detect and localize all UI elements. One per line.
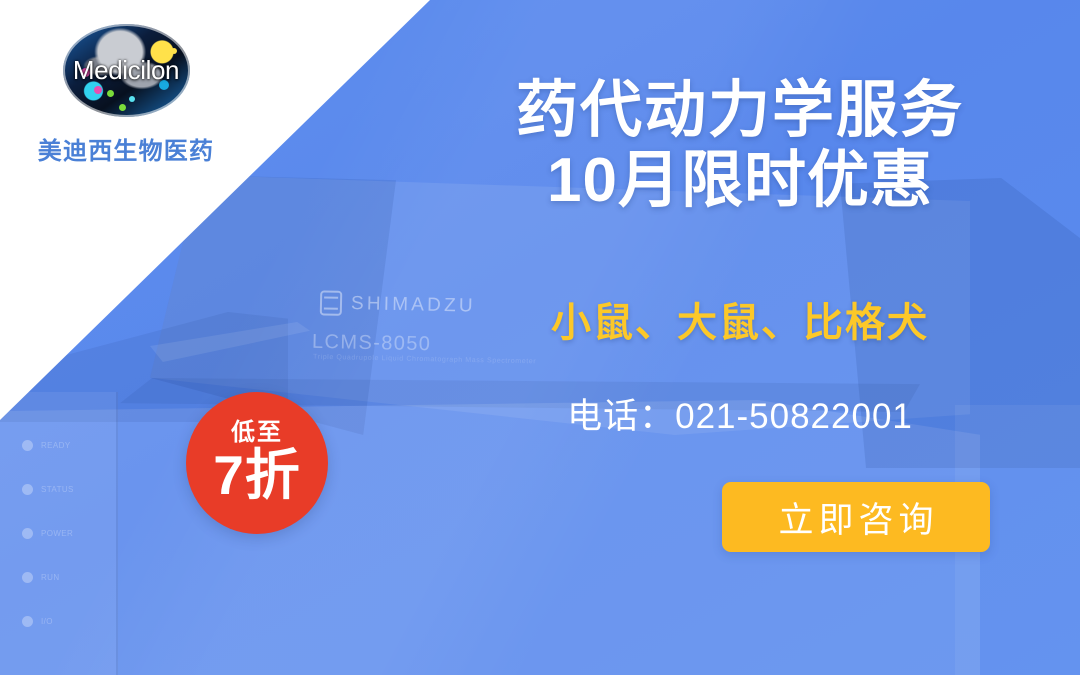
consult-now-button[interactable]: 立即咨询 (722, 482, 990, 552)
panel-indicator-row: READY (22, 440, 74, 451)
indicator-label: RUN (41, 573, 60, 582)
indicator-label: STATUS (41, 485, 74, 494)
indicator-label: POWER (41, 529, 73, 538)
discount-badge-value: 7折 (213, 447, 301, 505)
logo-wordmark: Medicilon (63, 54, 190, 85)
molecule-dot-icon (107, 90, 114, 97)
indicator-label: READY (41, 441, 71, 450)
discount-badge: 低至 7折 (186, 392, 328, 534)
panel-indicator-row: RUN (22, 572, 74, 583)
instrument-panel-indicators: READY STATUS POWER RUN I/O (22, 440, 74, 627)
discount-badge-prefix: 低至 (231, 421, 283, 445)
shimadzu-brand-mark: SHIMADZU (320, 290, 476, 318)
headline: 药代动力学服务 10月限时优惠 (470, 76, 1010, 216)
indicator-dot-icon (22, 572, 33, 583)
panel-indicator-row: POWER (22, 528, 74, 539)
indicator-dot-icon (22, 616, 33, 627)
brand-logo-block: Medicilon 美迪西生物医药 (26, 24, 226, 166)
molecule-dot-icon (94, 86, 102, 94)
headline-line-2: 10月限时优惠 (470, 146, 1010, 216)
promo-banner: SHIMADZU LCMS-8050 Triple Quadrupole Liq… (0, 0, 1080, 675)
shimadzu-brand-text: SHIMADZU (351, 293, 476, 318)
molecule-dot-icon (171, 48, 177, 54)
indicator-dot-icon (22, 440, 33, 451)
company-name-cn: 美迪西生物医药 (26, 131, 226, 166)
molecule-dot-icon (129, 96, 135, 102)
shimadzu-logo-icon (320, 290, 343, 315)
promo-content: 药代动力学服务 10月限时优惠 小鼠、大鼠、比格犬 电话：021-5082200… (470, 0, 1030, 675)
panel-indicator-row: STATUS (22, 484, 74, 495)
contact-phone: 电话：021-50822001 (470, 388, 1010, 439)
indicator-label: I/O (41, 617, 53, 626)
species-subline: 小鼠、大鼠、比格犬 (470, 290, 1010, 348)
panel-indicator-row: I/O (22, 616, 74, 627)
molecule-dot-icon (119, 104, 126, 111)
indicator-dot-icon (22, 528, 33, 539)
headline-line-1: 药代动力学服务 (516, 76, 964, 145)
instrument-model-text: LCMS-8050 (312, 331, 432, 356)
indicator-dot-icon (22, 484, 33, 495)
medicilon-logo-icon: Medicilon (63, 24, 190, 117)
